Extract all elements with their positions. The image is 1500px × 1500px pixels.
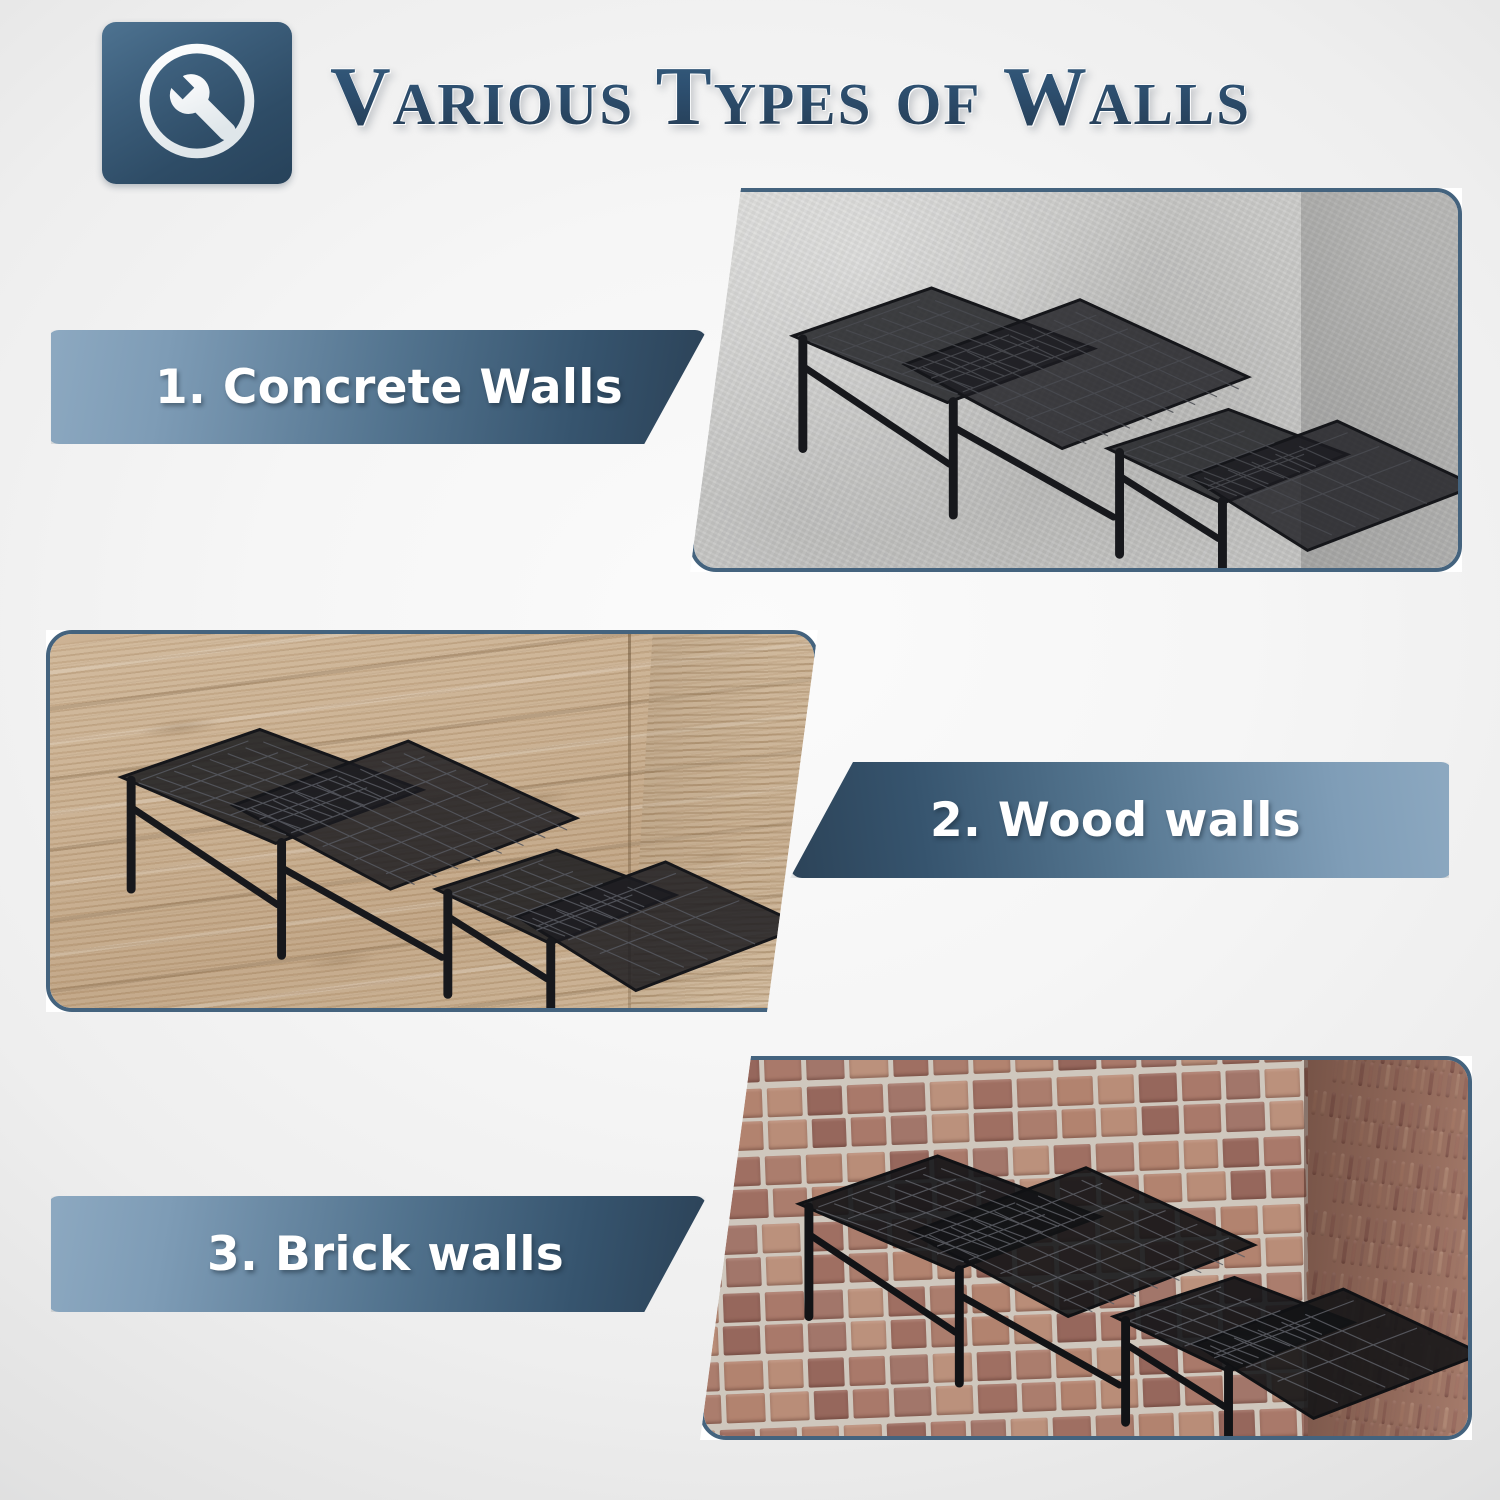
infographic-canvas: Various Types of Walls	[0, 0, 1500, 1500]
brick	[704, 1158, 721, 1188]
brick	[704, 1123, 721, 1153]
wire-shelf-rack	[704, 1060, 1468, 1436]
photo-panel-concrete	[690, 188, 1462, 572]
label-text-concrete: 1. Concrete Walls	[155, 360, 623, 415]
wire-shelf-rack	[694, 192, 1458, 568]
label-text-brick: 3. Brick walls	[207, 1227, 564, 1282]
panel-frame	[700, 1056, 1472, 1440]
panel-frame	[46, 630, 818, 1012]
brick	[704, 1226, 717, 1256]
page-title: Various Types of Walls	[330, 36, 1420, 156]
photo-panel-wood	[46, 630, 818, 1012]
label-banner-brick: 3. Brick walls	[47, 1196, 707, 1312]
label-banner-concrete: 1. Concrete Walls	[47, 330, 707, 444]
wood-wall-photo	[50, 634, 814, 1008]
panel-frame	[690, 188, 1462, 572]
concrete-wall-photo	[694, 192, 1458, 568]
label-text-wood: 2. Wood walls	[930, 793, 1301, 848]
wrench-in-circle-icon	[102, 22, 292, 184]
label-banner-wood: 2. Wood walls	[790, 762, 1453, 878]
brick	[704, 1060, 718, 1085]
header: Various Types of Walls	[0, 0, 1500, 200]
brick-wall-photo	[704, 1060, 1468, 1436]
brick	[704, 1090, 719, 1120]
wire-shelf-rack	[50, 634, 814, 1008]
brick	[704, 1259, 722, 1289]
brick	[704, 1191, 724, 1221]
photo-panel-brick	[700, 1056, 1472, 1440]
